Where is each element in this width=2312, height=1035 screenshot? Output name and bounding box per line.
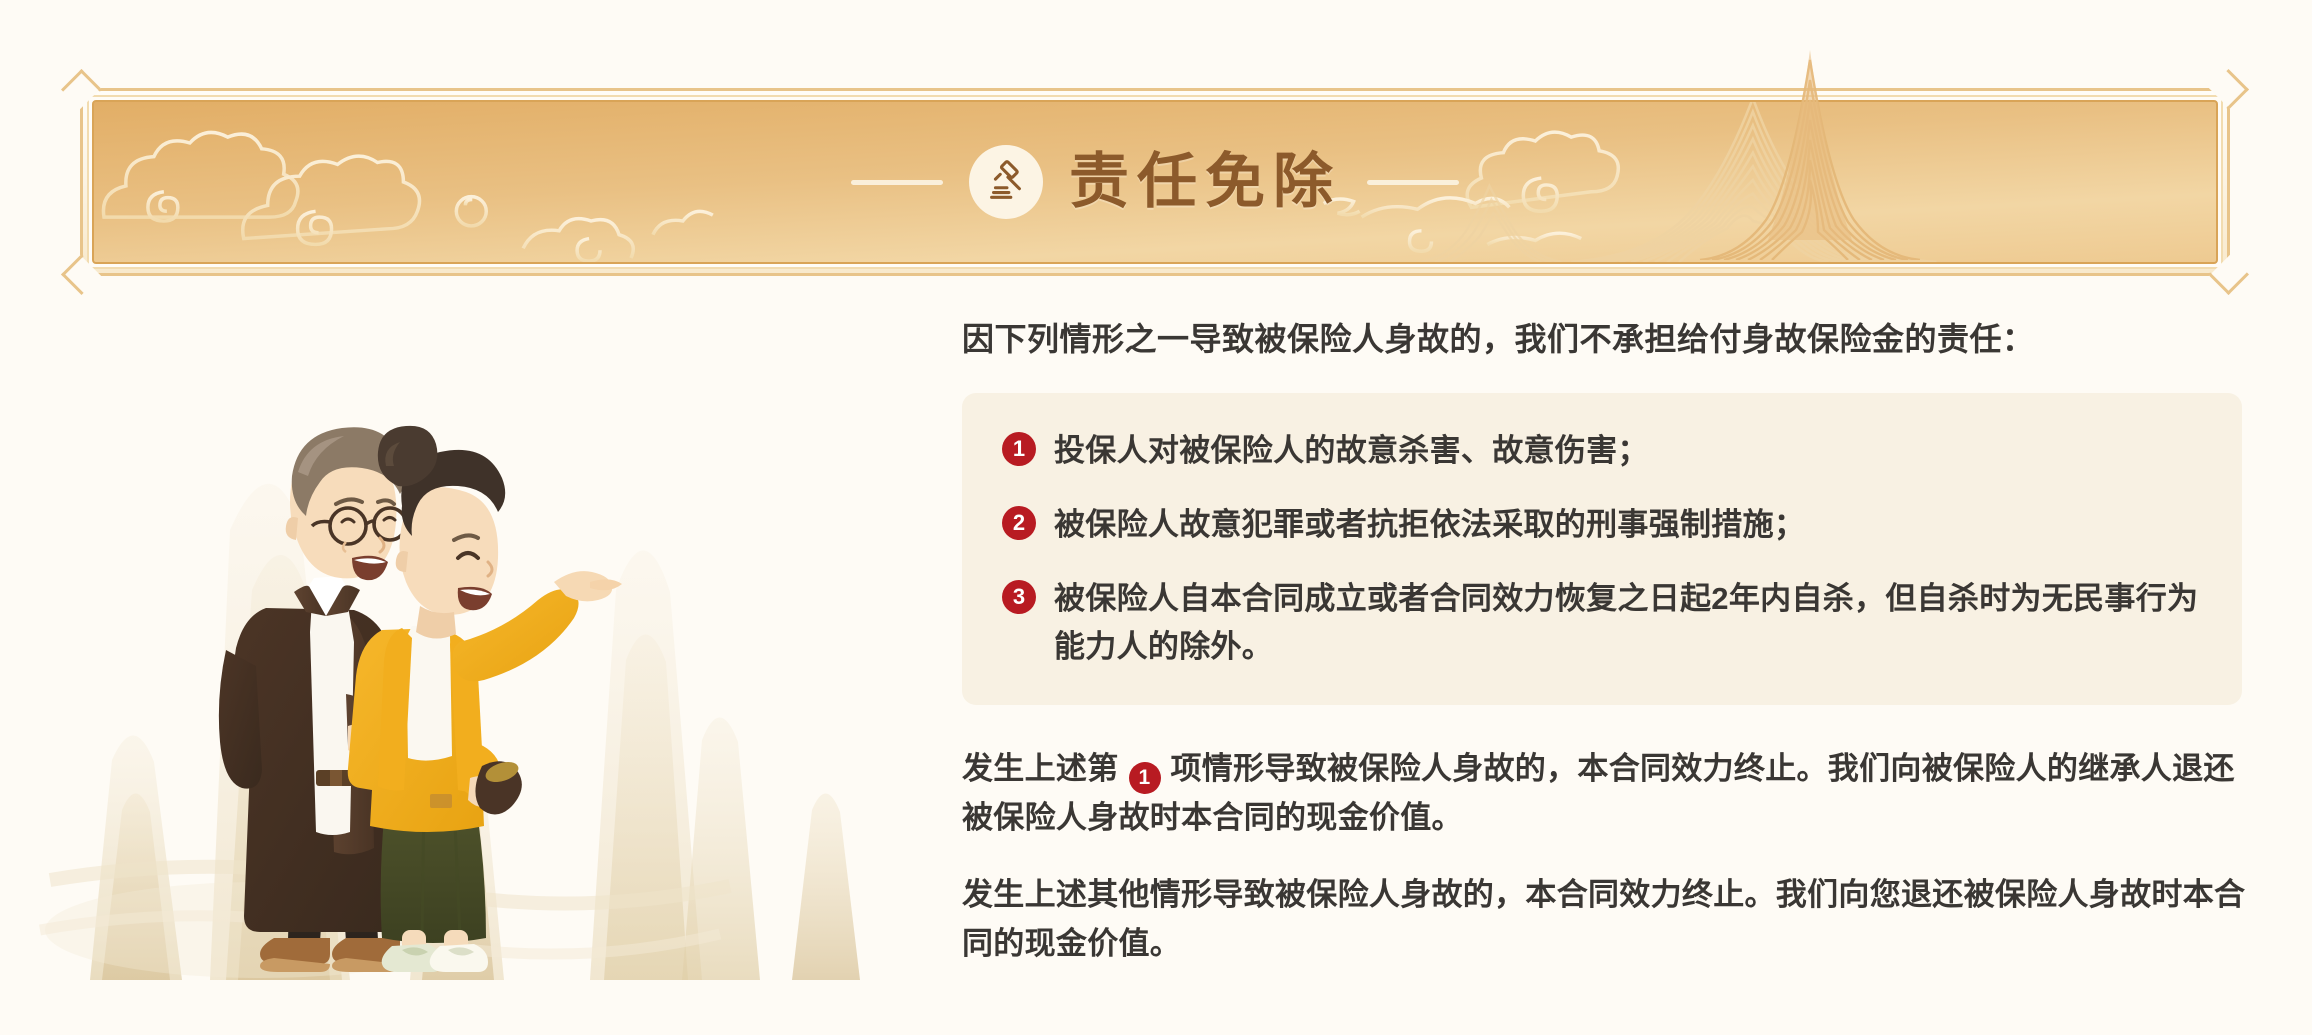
list-item-text-1: 投保人对被保险人的故意杀害、故意伤害； — [1054, 427, 1649, 475]
paragraph-one-prefix: 发生上述第 — [962, 751, 1119, 786]
list-item-text-2: 被保险人故意犯罪或者抗拒依法采取的刑事强制措施； — [1054, 501, 1805, 549]
paragraph-one: 发生上述第1项情形导致被保险人身故的，本合同效力终止。我们向被保险人的继承人退还… — [962, 745, 2252, 843]
page-title: 责任免除 — [1069, 152, 1341, 212]
paragraph-two-text: 发生上述其他情形导致被保险人身故的，本合同效力终止。我们向您退还被保险人身故时本… — [962, 877, 2245, 961]
exclusions-box: 1 投保人对被保险人的故意杀害、故意伤害； 2 被保险人故意犯罪或者抗拒依法采取… — [962, 393, 2242, 705]
list-item: 3 被保险人自本合同成立或者合同效力恢复之日起2年内自杀，但自杀时为无民事行为能… — [1002, 575, 2202, 671]
title-dash-left — [851, 180, 943, 185]
intro-text: 因下列情形之一导致被保险人身故的，我们不承担给付身故保险金的责任： — [962, 315, 2252, 363]
list-marker-3: 3 — [1002, 580, 1036, 614]
list-marker-2: 2 — [1002, 506, 1036, 540]
gavel-icon — [969, 145, 1043, 219]
list-marker-1: 1 — [1002, 432, 1036, 466]
elderly-couple-illustration — [30, 290, 960, 1010]
title-dash-right — [1367, 180, 1459, 185]
content-area: 因下列情形之一导致被保险人身故的，我们不承担给付身故保险金的责任： 1 投保人对… — [962, 315, 2252, 969]
paragraph-two: 发生上述其他情形导致被保险人身故的，本合同效力终止。我们向您退还被保险人身故时本… — [962, 871, 2252, 969]
banner-body: 责任免除 — [92, 100, 2218, 264]
list-item: 2 被保险人故意犯罪或者抗拒依法采取的刑事强制措施； — [1002, 501, 2202, 549]
list-item-text-3: 被保险人自本合同成立或者合同效力恢复之日起2年内自杀，但自杀时为无民事行为能力人… — [1054, 575, 2202, 671]
list-item: 1 投保人对被保险人的故意杀害、故意伤害； — [1002, 427, 2202, 475]
inline-marker-1: 1 — [1129, 762, 1161, 794]
header-banner: 责任免除 — [80, 88, 2230, 276]
